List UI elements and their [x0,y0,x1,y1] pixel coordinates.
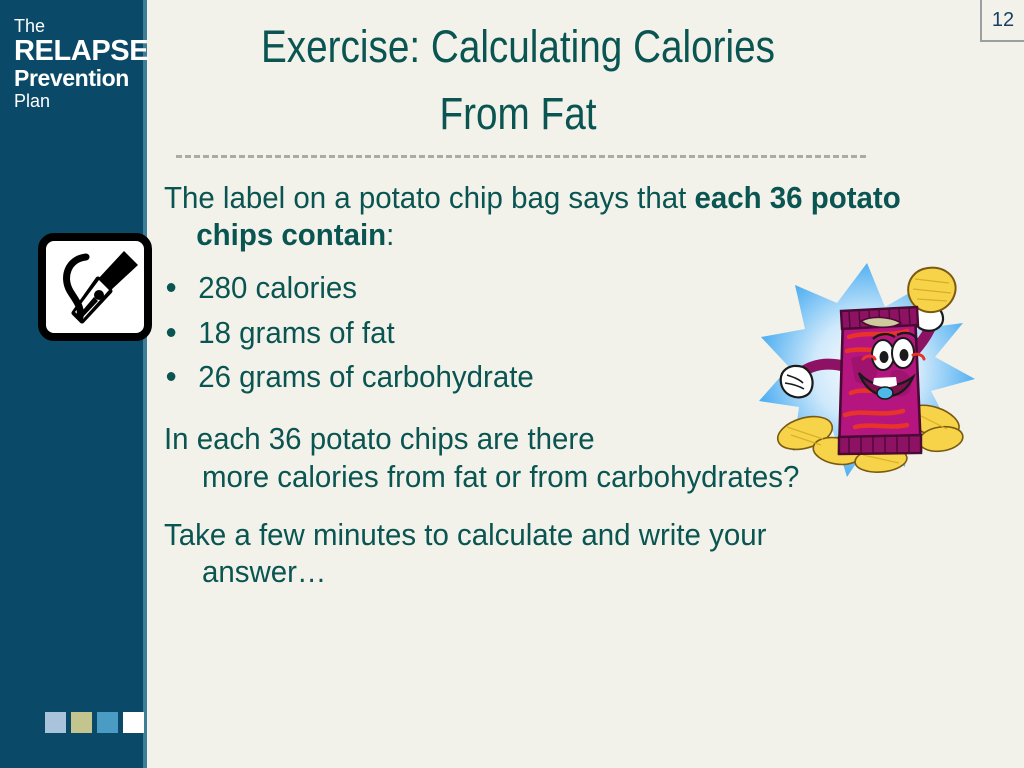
sidebar-edge-stripe [143,0,147,768]
list-item-label: 26 grams of carbohydrate [198,359,534,394]
brand-logo: The RELAPSE Prevention Plan [14,17,139,110]
pen-nib-icon [38,233,152,341]
bullet-dot-icon [167,283,176,292]
bullet-dot-icon [167,328,176,337]
logo-line-prevention: Prevention [14,67,139,90]
logo-line-relapse: RELAPSE [14,37,139,66]
slide-number-badge: 12 [980,0,1024,42]
swatch-white [123,712,144,733]
intro-prefix: The label on a potato chip bag says that [164,180,694,215]
swatch-blue [97,712,118,733]
color-swatch-row [45,712,144,733]
logo-line-the: The [14,17,139,35]
intro-paragraph: The label on a potato chip bag says that… [164,180,943,253]
potato-chip-bag-mascot [755,255,980,485]
title-divider [176,155,866,158]
page-title: Exercise: Calculating Calories From Fat [217,14,819,147]
logo-line-plan: Plan [14,92,139,110]
bullet-dot-icon [167,372,176,381]
instruction-paragraph: Take a few minutes to calculate and writ… [164,516,943,592]
list-item-label: 18 grams of fat [198,315,394,350]
slide: The RELAPSE Prevention Plan 12 Exercise:… [0,0,1024,768]
sidebar [0,0,143,768]
list-item-label: 280 calories [198,270,357,305]
swatch-light-blue [45,712,66,733]
intro-suffix: : [386,217,394,252]
swatch-khaki [71,712,92,733]
